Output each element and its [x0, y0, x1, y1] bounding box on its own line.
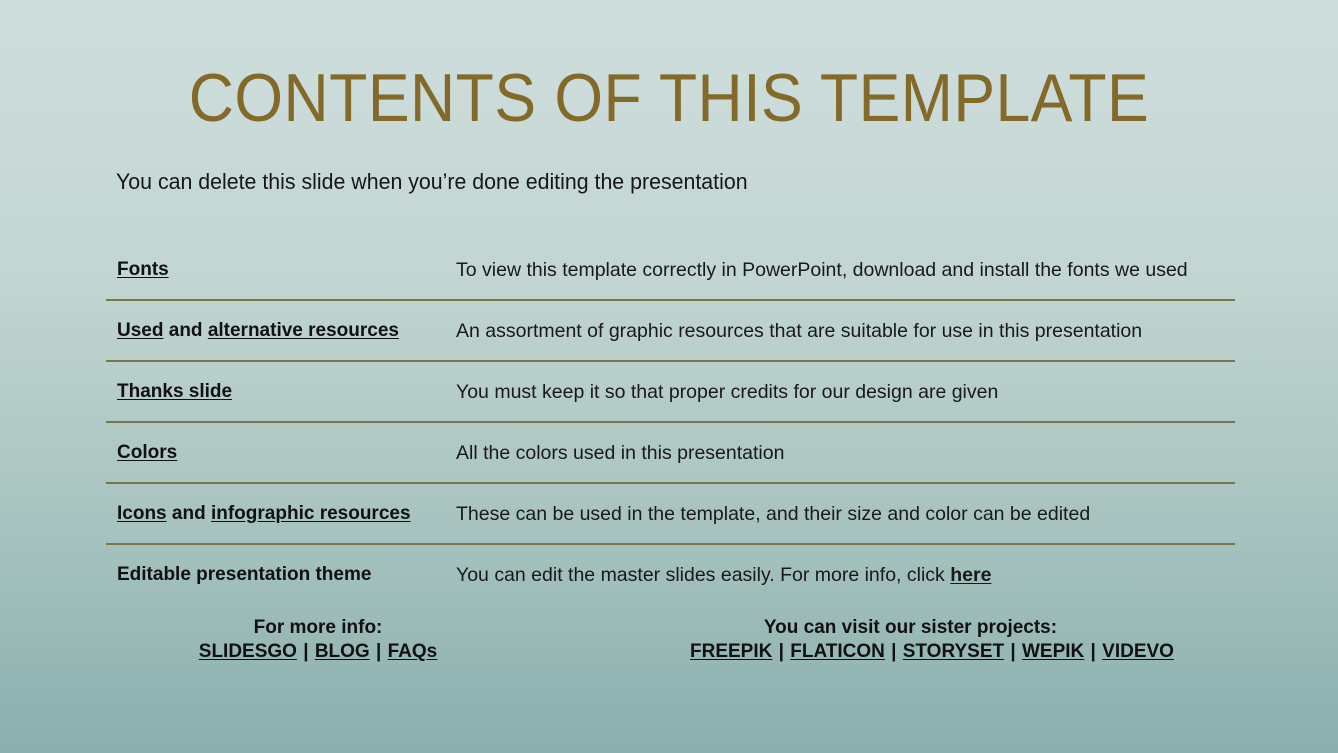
- footer: For more info: SLIDESGO | BLOG | FAQs Yo…: [0, 616, 1338, 676]
- footer-link-faqs[interactable]: FAQs: [388, 641, 438, 662]
- footer-link-videvo[interactable]: VIDEVO: [1102, 641, 1174, 662]
- footer-link-blog[interactable]: BLOG: [315, 641, 370, 662]
- table-row: Editable presentation themeYou can edit …: [106, 545, 1235, 604]
- table-row: ColorsAll the colors used in this presen…: [106, 423, 1235, 484]
- table-row: Used and alternative resourcesAn assortm…: [106, 301, 1235, 362]
- row-label-link[interactable]: alternative resources: [208, 320, 399, 341]
- row-label-link[interactable]: Fonts: [117, 259, 169, 280]
- row-label: Editable presentation theme: [106, 563, 456, 587]
- row-description-link[interactable]: here: [950, 564, 991, 586]
- row-description-text: These can be used in the template, and t…: [456, 503, 1090, 525]
- row-label-link[interactable]: infographic resources: [211, 503, 411, 524]
- footer-sister-projects-heading: You can visit our sister projects:: [690, 616, 1131, 639]
- row-label-link[interactable]: Thanks slide: [117, 381, 232, 402]
- row-description: You can edit the master slides easily. F…: [456, 563, 1235, 587]
- row-label: Fonts: [106, 258, 456, 282]
- link-separator: |: [1084, 641, 1102, 662]
- row-description-text: All the colors used in this presentation: [456, 442, 784, 464]
- table-row: FontsTo view this template correctly in …: [106, 240, 1235, 301]
- row-label-link[interactable]: Icons: [117, 503, 167, 524]
- row-description: These can be used in the template, and t…: [456, 502, 1235, 526]
- slide-canvas: CONTENTS OF THIS TEMPLATE You can delete…: [0, 0, 1338, 753]
- row-label-text: and: [167, 503, 211, 524]
- footer-link-freepik[interactable]: FREEPIK: [690, 641, 772, 662]
- footer-link-wepik[interactable]: WEPIK: [1022, 641, 1084, 662]
- footer-link-storyset[interactable]: STORYSET: [903, 641, 1004, 662]
- row-label-link[interactable]: Used: [117, 320, 163, 341]
- row-description-text: You must keep it so that proper credits …: [456, 381, 998, 403]
- row-description-text: An assortment of graphic resources that …: [456, 320, 1142, 342]
- link-separator: |: [370, 641, 388, 662]
- table-row: Thanks slideYou must keep it so that pro…: [106, 362, 1235, 423]
- link-separator: |: [772, 641, 790, 662]
- footer-link-slidesgo[interactable]: SLIDESGO: [199, 641, 297, 662]
- link-separator: |: [1004, 641, 1022, 662]
- row-label-text: and: [163, 320, 207, 341]
- row-description: All the colors used in this presentation: [456, 441, 1235, 465]
- link-separator: |: [885, 641, 903, 662]
- row-label-link[interactable]: Colors: [117, 442, 177, 463]
- row-label: Colors: [106, 441, 456, 465]
- row-description-text: To view this template correctly in Power…: [456, 259, 1188, 281]
- footer-sister-projects: You can visit our sister projects: FREEP…: [690, 616, 1131, 663]
- row-label: Used and alternative resources: [106, 319, 456, 343]
- slide-subtitle: You can delete this slide when you’re do…: [116, 167, 748, 197]
- table-row: Icons and infographic resourcesThese can…: [106, 484, 1235, 545]
- row-label: Thanks slide: [106, 380, 456, 404]
- row-label: Icons and infographic resources: [106, 502, 456, 526]
- footer-sister-projects-links: FREEPIK | FLATICON | STORYSET | WEPIK | …: [690, 640, 1131, 663]
- row-description: An assortment of graphic resources that …: [456, 319, 1235, 343]
- footer-link-flaticon[interactable]: FLATICON: [790, 641, 885, 662]
- footer-more-info: For more info: SLIDESGO | BLOG | FAQs: [193, 616, 443, 663]
- row-description-text: You can edit the master slides easily. F…: [456, 564, 950, 586]
- row-description: You must keep it so that proper credits …: [456, 380, 1235, 404]
- footer-more-info-links: SLIDESGO | BLOG | FAQs: [193, 640, 443, 663]
- row-label-text: Editable presentation theme: [117, 564, 371, 585]
- row-description: To view this template correctly in Power…: [456, 258, 1235, 282]
- link-separator: |: [297, 641, 315, 662]
- contents-table: FontsTo view this template correctly in …: [106, 240, 1235, 604]
- page-title: CONTENTS OF THIS TEMPLATE: [54, 58, 1285, 138]
- footer-more-info-heading: For more info:: [193, 616, 443, 639]
